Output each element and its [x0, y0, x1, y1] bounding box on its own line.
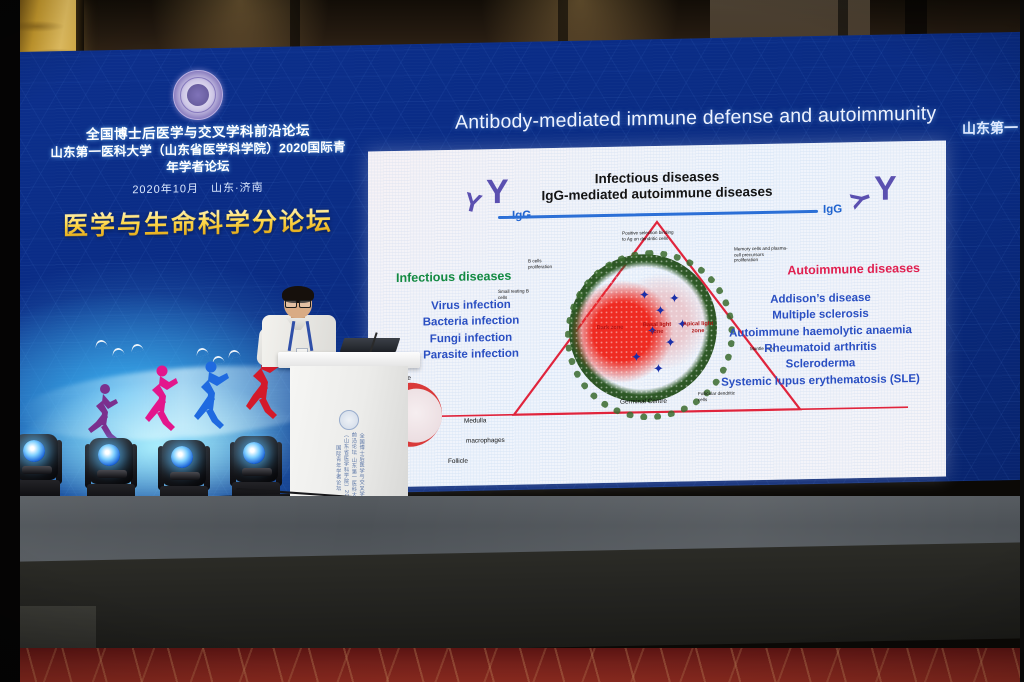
memory-cells-label: Memory cells and plasma-cell precursors … — [734, 245, 788, 263]
left-dark-border — [0, 0, 20, 682]
dendritic-cell-icon: ✦ — [655, 304, 666, 317]
apical-light-zone-label: Apical light zone — [680, 321, 716, 335]
light-lens — [23, 440, 45, 462]
forum-subforum-title: 医学与生命科学分论坛 — [48, 201, 348, 243]
light-vent — [170, 472, 200, 480]
right-column-list: Addison’s disease Multiple sclerosis Aut… — [713, 289, 928, 391]
backdrop-right-edge-text: 山东第一 — [962, 117, 1018, 138]
light-lens — [98, 444, 120, 466]
eyeglasses-icon — [285, 300, 311, 306]
dark-zone-label: Dark zone — [590, 325, 630, 332]
university-emblem-icon — [173, 70, 223, 121]
forum-title-block: 全国博士后医学与交叉学科前沿论坛 山东第一医科大学（山东省医学科学院）2020国… — [48, 67, 348, 243]
light-vent — [242, 468, 272, 476]
stage-front-apron — [0, 542, 1024, 658]
basal-light-zone-label: Basal light zone — [640, 322, 674, 336]
medulla-label: Medulla — [464, 417, 500, 426]
light-lens — [243, 442, 265, 464]
runner-silhouette — [141, 364, 181, 434]
dendritic-cell-icon: ✦ — [631, 350, 642, 363]
dendritic-cell-icon: ✦ — [665, 336, 676, 349]
light-vent — [97, 470, 127, 478]
follicle-label: Follicle — [448, 457, 480, 466]
dendritic-cell-icon: ✦ — [653, 362, 664, 375]
podium-emblem-icon — [339, 410, 359, 430]
forum-line-2: 山东第一医科大学（山东省医学科学院）2020国际青年学者论坛 — [48, 139, 348, 179]
forum-date-location: 2020年10月 山东·济南 — [48, 177, 348, 199]
podium-front-panel: 全国博士后医学与交叉学科前沿论坛 山东第一医科大学（山东省医学科学院）2020国… — [290, 366, 408, 506]
right-column-heading: Autoimmune diseases — [787, 261, 920, 278]
light-head — [234, 436, 278, 482]
runner-silhouette — [189, 360, 231, 432]
conference-stage-photo: 全国博士后医学与交叉学科前沿论坛 山东第一医科大学（山东省医学科学院）2020国… — [0, 0, 1024, 682]
carpet-pattern — [0, 648, 1024, 682]
runner-silhouette — [86, 382, 120, 444]
macrophages-label: macrophages — [466, 437, 510, 446]
left-column-heading: Infectious diseases — [396, 269, 511, 285]
positive-selection-label: Positive selection binding to Ag on dend… — [622, 230, 678, 243]
dendritic-cell-icon: ✦ — [669, 292, 680, 305]
dendritic-cell-icon: ✦ — [639, 288, 650, 301]
light-lens — [171, 446, 193, 468]
podium-vertical-text: 全国博士后医学与交叉学科前沿论坛 山东第一医科大学（山东省医学科学院）2020国… — [333, 432, 364, 504]
light-head — [14, 434, 58, 480]
right-dark-border — [1020, 0, 1024, 682]
light-head — [162, 440, 206, 486]
light-vent — [22, 466, 52, 474]
germinal-centre-label: Germinal Centre — [620, 397, 690, 406]
presentation-slide: Infectious diseases IgG-mediated autoimm… — [368, 140, 946, 487]
light-head — [89, 438, 133, 484]
b-cells-proliferation-label: B cells proliferation — [528, 258, 564, 270]
follicular-dendritic-cells-label: Follicular dendritic cells — [698, 390, 742, 402]
